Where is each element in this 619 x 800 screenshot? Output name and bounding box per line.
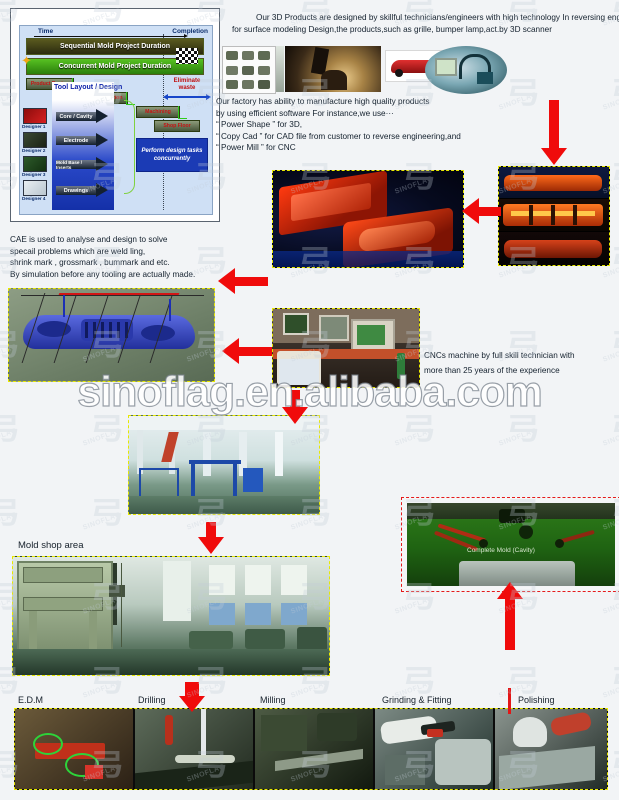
gantt-time-axis	[34, 36, 184, 37]
sinoflag-logo-icon: 弓	[610, 68, 619, 112]
designer-label-4: Designer 4	[22, 196, 48, 201]
sinoflag-logo-icon: 弓	[90, 488, 121, 532]
eliminate-waste-arrow-icon	[167, 96, 207, 98]
arrow-down-to-process-strip	[175, 682, 211, 714]
design-arrow-label: Core / Cavity	[56, 112, 96, 121]
designer-label-3: Designer 3	[22, 172, 48, 177]
software-line-1: Our factory has ability to manufacture h…	[216, 96, 546, 108]
design-arrow-label: Drawings	[56, 186, 96, 195]
sinoflag-logo-icon: 弓	[90, 404, 121, 448]
software-line-4: “ Copy Cad ” for CAD file from customer …	[216, 131, 546, 143]
sinoflag-logo-icon: 弓	[610, 236, 619, 280]
watermark-tile-label: SINOFLAG	[602, 91, 619, 111]
watermark-tile: 弓SINOFLAG	[604, 400, 619, 462]
gantt-completion-label: Completion	[172, 28, 208, 35]
designer-thumb-3	[23, 156, 47, 172]
photo-cnc-workstation	[272, 308, 420, 388]
arrow-down-to-workshop	[282, 390, 308, 424]
cnc-paragraph: CNCs machine by full skill technician wi…	[424, 348, 619, 378]
design-arrow-label: Electrode	[56, 136, 96, 145]
intro-line-2: for surface modeling Design,the products…	[232, 24, 617, 36]
design-arrow-core-cavity: Core / Cavity	[56, 110, 108, 123]
photo-drilling	[135, 709, 253, 789]
arrow-left-to-cae	[218, 268, 268, 296]
photo-scanner-edge	[276, 46, 284, 92]
photo-workshop-overview	[128, 415, 320, 515]
gantt-eliminate-waste-label: Eliminate waste	[166, 78, 208, 92]
process-label-edm: E.D.M	[18, 695, 43, 705]
cae-line-1: CAE is used to analyse and design to sol…	[10, 234, 230, 246]
designer-thumb-2	[23, 132, 47, 148]
cae-line-2: specail problems which are weld ling,	[10, 246, 230, 258]
arrow-down-to-mold-shop	[194, 522, 228, 556]
design-arrow-label: Mold Base / Inserts	[56, 160, 96, 169]
mold-shop-caption: Mold shop area	[18, 540, 83, 551]
watermark-tile: 弓SINOFLAG	[0, 400, 42, 462]
watermark-tile-label: SINOFLAG	[394, 427, 434, 447]
watermark-tile-label: SINOFLAG	[82, 511, 122, 531]
sinoflag-logo-icon: 弓	[610, 152, 619, 196]
arrow-up-to-complete-mold	[497, 580, 523, 650]
arrow-left-to-mold-cad	[462, 198, 500, 226]
watermark-tile-label: SINOFLAG	[498, 427, 538, 447]
software-paragraph: Our factory has ability to manufacture h…	[216, 96, 546, 154]
cae-line-4: By simulation before any tooling are act…	[10, 269, 230, 281]
photo-milling	[255, 709, 373, 789]
concurrent-engineering-diagram: Time Completion Sequential Mold Project …	[10, 8, 220, 222]
intro-line-1: Our 3D Products are designed by skillful…	[232, 12, 617, 24]
process-label-polishing: Polishing	[518, 695, 555, 705]
watermark-tile: 弓SINOFLAG	[0, 484, 42, 546]
sinoflag-logo-icon: 弓	[402, 404, 433, 448]
arrow-down-to-bumper-renders	[541, 100, 567, 166]
sinoflag-logo-icon: 弓	[610, 740, 619, 784]
process-label-milling: Milling	[260, 695, 286, 705]
process-label-drilling: Drilling	[138, 695, 166, 705]
designer-label-1: Designer 1	[22, 124, 48, 129]
watermark-tile-label: SINOFLAG	[290, 679, 330, 699]
watermark-tile: 弓SINOFLAG	[396, 400, 458, 462]
photo-grinding-fitting	[375, 709, 493, 789]
software-line-3: “ Power Shape ” for 3D,	[216, 119, 546, 131]
designer-thumb-1	[23, 108, 47, 124]
watermark-tile-label: SINOFLAG	[82, 427, 122, 447]
sinoflag-logo-icon: 弓	[0, 488, 17, 532]
design-arrow-drawings: Drawings	[56, 184, 108, 197]
watermark-tile-label: SINOFLAG	[602, 595, 619, 615]
cnc-line-1: CNCs machine by full skill technician wi…	[424, 348, 619, 363]
watermark-tile-label: SINOFLAG	[0, 511, 18, 531]
cae-line-3: shrink mark , grossmark , bummark and et…	[10, 257, 230, 269]
photo-cae-simulation	[8, 288, 215, 382]
concurrent-brace	[124, 100, 135, 194]
designer-thumb-4	[23, 180, 47, 196]
watermark-tile-label: SINOFLAG	[0, 679, 18, 699]
watermark-tile-label: SINOFLAG	[602, 679, 619, 699]
arrow-left-to-cae-image	[222, 338, 272, 366]
checkered-flag-icon	[176, 48, 198, 64]
sinoflag-logo-icon: 弓	[610, 656, 619, 700]
design-arrow-mold-base: Mold Base / Inserts	[56, 158, 108, 171]
intro-paragraph: Our 3D Products are designed by skillful…	[232, 12, 617, 35]
photo-scanner-workstation	[425, 46, 507, 94]
gantt-time-label: Time	[38, 28, 53, 35]
photo-bumper-renders-stack	[498, 166, 610, 266]
cae-paragraph: CAE is used to analyse and design to sol…	[10, 234, 230, 280]
watermark-tile: 弓SINOFLAG	[604, 64, 619, 126]
gantt-chart-area: Time Completion Sequential Mold Project …	[19, 25, 213, 215]
watermark-tile: 弓SINOFLAG	[604, 652, 619, 714]
cnc-line-2: more than 25 years of the experience	[424, 363, 619, 378]
complete-mold-frame: Complete Mold (Cavity)	[401, 497, 619, 592]
photo-process-strip	[14, 708, 608, 790]
sinoflag-logo-icon: 弓	[506, 404, 537, 448]
photo-mold-shop	[12, 556, 330, 676]
process-label-grinding-fitting: Grinding & Fitting	[382, 695, 452, 705]
perform-concurrently-note: Perform design tasks concurrently	[136, 138, 208, 172]
watermark-tile-label: SINOFLAG	[394, 595, 434, 615]
sinoflag-logo-icon: 弓	[610, 404, 619, 448]
watermark-tile-label: SINOFLAG	[602, 427, 619, 447]
star-icon: ✦	[21, 54, 32, 67]
photo-mold-cad-render	[272, 170, 464, 268]
photo-scanner-head	[285, 46, 381, 92]
watermark-tile: 弓SINOFLAG	[500, 400, 562, 462]
photo-edm	[15, 709, 133, 789]
photo-3d-scan-sketches	[222, 46, 276, 94]
design-arrow-electrode: Electrode	[56, 134, 108, 147]
sinoflag-logo-icon: 弓	[0, 404, 17, 448]
software-line-5: “ Power Mill ” for CNC	[216, 142, 546, 154]
software-line-2: by using efficient software For instance…	[216, 108, 546, 120]
sinoflag-logo-icon: 弓	[402, 656, 433, 700]
watermark-tile-label: SINOFLAG	[0, 427, 18, 447]
gantt-task-shop-floor: Shop Floor	[154, 120, 200, 132]
complete-mold-caption: Complete Mold (Cavity)	[467, 547, 535, 554]
gantt-connector	[178, 106, 187, 119]
watermark-tile-label: SINOFLAG	[82, 679, 122, 699]
polishing-divider	[508, 688, 511, 714]
photo-polishing	[495, 709, 607, 789]
designer-label-2: Designer 2	[22, 148, 48, 153]
gantt-task-machining: Machining	[136, 106, 180, 118]
gantt-tool-layout-label: Tool Layout / Design	[54, 84, 122, 91]
